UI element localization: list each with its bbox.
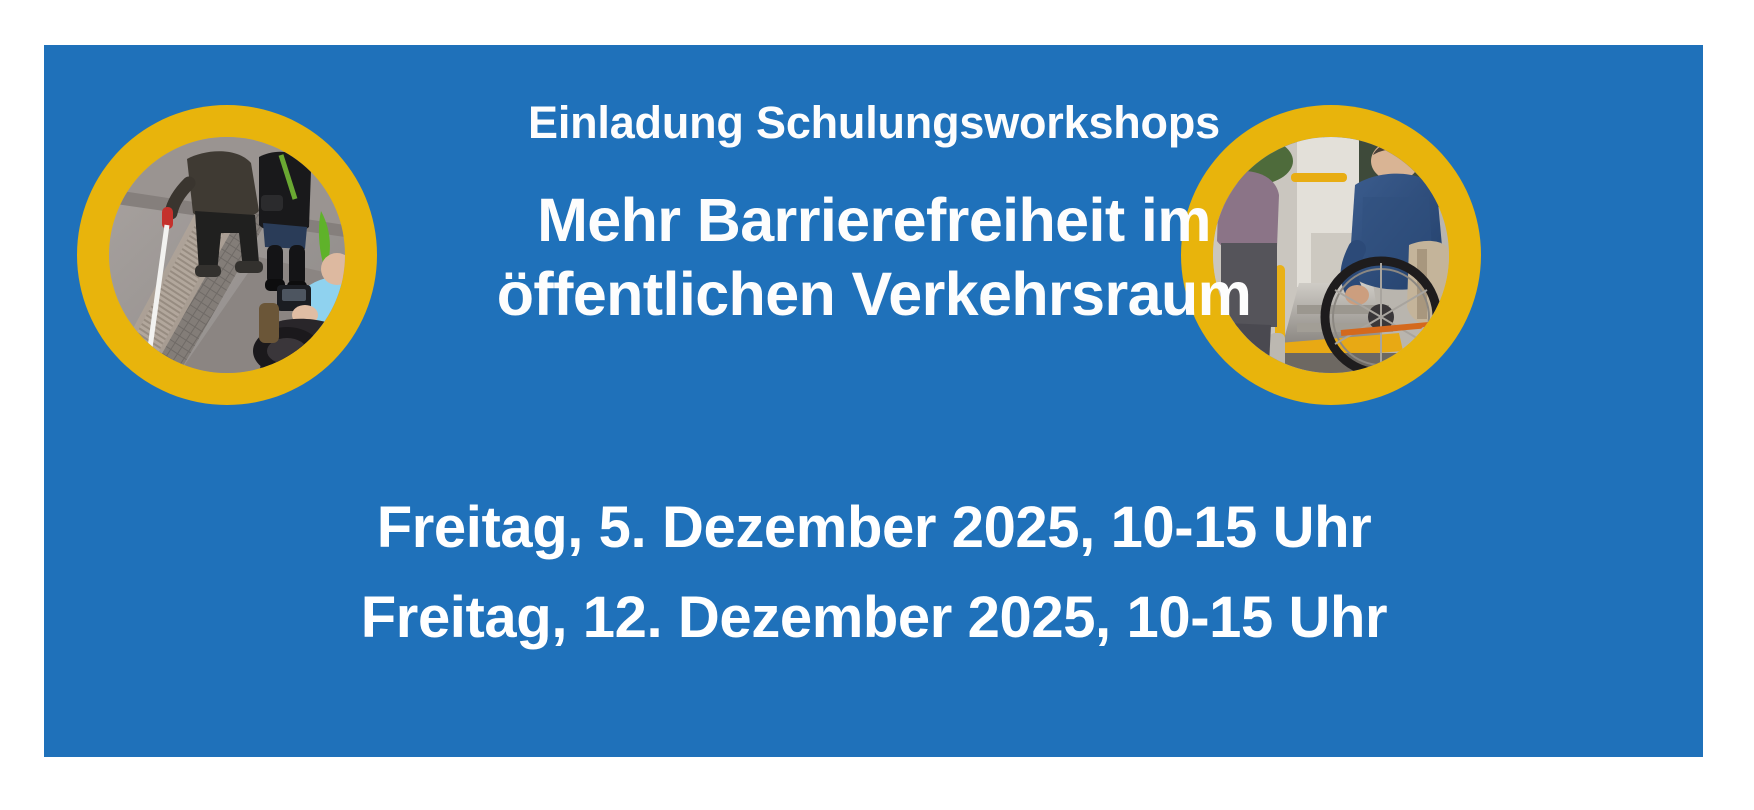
headline-line-2: öffentlichen Verkehrsraum — [244, 257, 1504, 331]
poster-root: Einladung Schulungsworkshops Mehr Barrie… — [0, 0, 1754, 810]
date-line-2: Freitag, 12. Dezember 2025, 10-15 Uhr — [244, 573, 1504, 663]
dates-block: Freitag, 5. Dezember 2025, 10-15 Uhr Fre… — [244, 483, 1504, 663]
eyebrow-text: Einladung Schulungsworkshops — [244, 97, 1504, 149]
headline-line-1: Mehr Barrierefreiheit im — [244, 183, 1504, 257]
date-line-1: Freitag, 5. Dezember 2025, 10-15 Uhr — [244, 483, 1504, 573]
banner-panel: Einladung Schulungsworkshops Mehr Barrie… — [44, 45, 1703, 757]
page-title: Mehr Barrierefreiheit im öffentlichen Ve… — [244, 183, 1504, 332]
headline-block: Einladung Schulungsworkshops Mehr Barrie… — [244, 97, 1504, 332]
